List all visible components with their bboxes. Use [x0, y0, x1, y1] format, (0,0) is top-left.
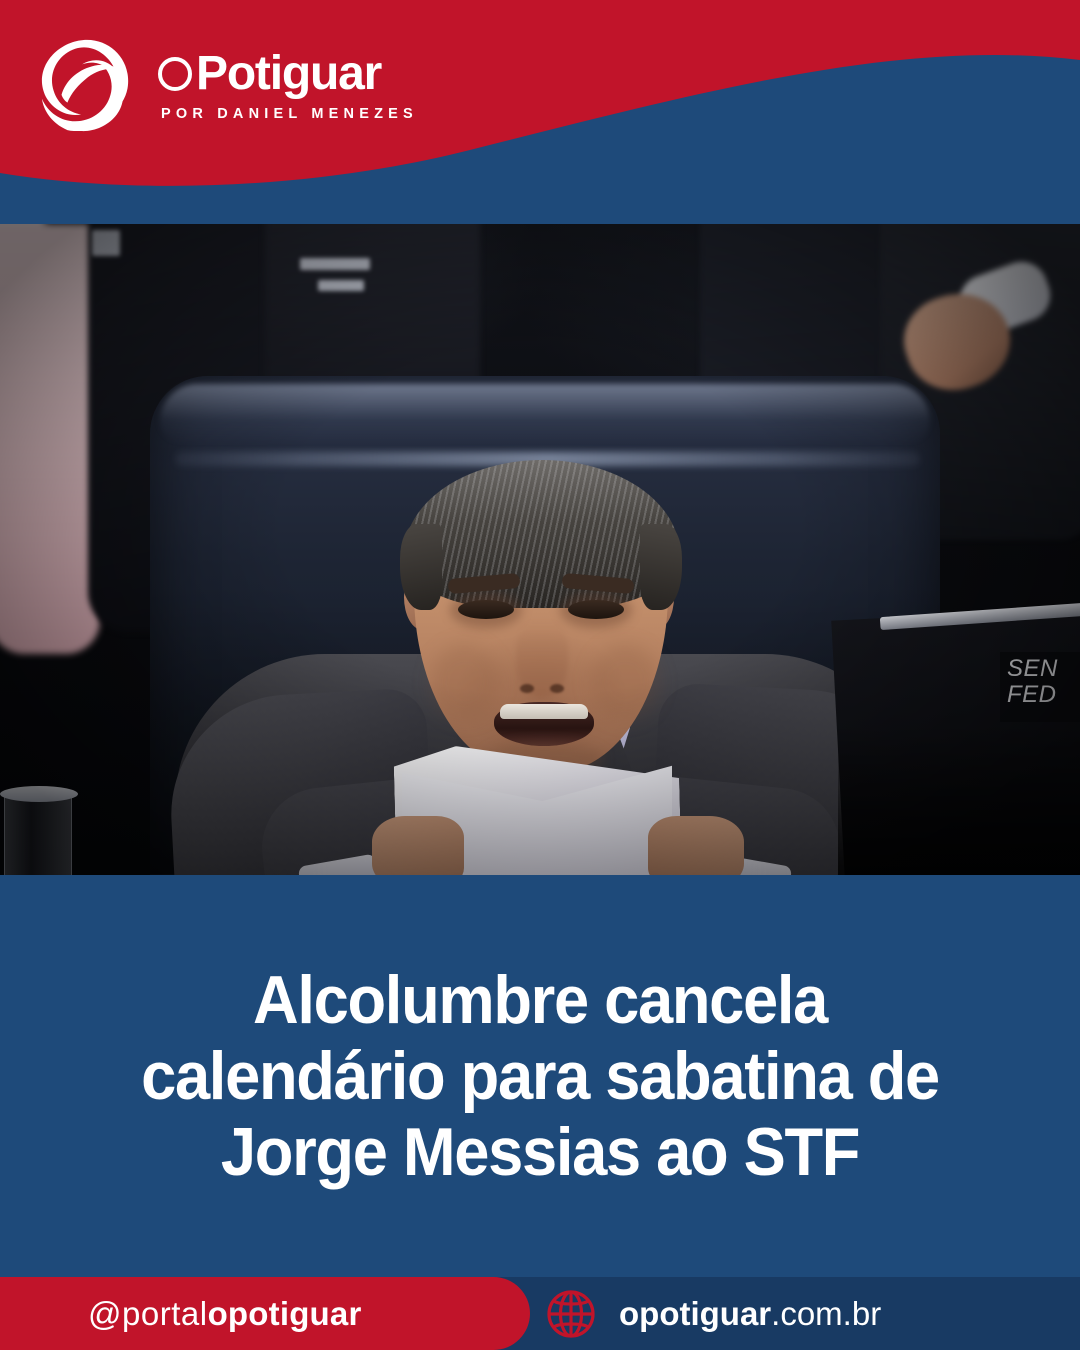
social-handle-block[interactable]: @portalopotiguar	[0, 1277, 530, 1350]
headline-section: Alcolumbre cancela calendário para sabat…	[0, 875, 1080, 1277]
social-handle-prefix: @portal	[88, 1295, 208, 1332]
brand-o-circle-icon	[158, 57, 192, 91]
website-url: opotiguar.com.br	[619, 1297, 881, 1330]
globe-icon	[545, 1288, 597, 1340]
header-bar: Potiguar POR DANIEL MENEZES	[0, 0, 1080, 224]
headline-text: Alcolumbre cancela calendário para sabat…	[75, 962, 1005, 1190]
brand-tagline: POR DANIEL MENEZES	[161, 107, 418, 122]
social-handle-bold: opotiguar	[208, 1295, 362, 1332]
social-handle: @portalopotiguar	[88, 1297, 362, 1330]
brand-logo[interactable]: Potiguar POR DANIEL MENEZES	[38, 36, 418, 134]
website-block[interactable]: opotiguar.com.br	[545, 1277, 881, 1350]
social-media-card: Potiguar POR DANIEL MENEZES	[0, 0, 1080, 1350]
footer-bar: @portalopotiguar opotiguar.com.br	[0, 1277, 1080, 1350]
website-tld: .com.br	[771, 1295, 881, 1332]
photo-vignette	[0, 224, 1080, 875]
news-photo: SEN FED	[0, 224, 1080, 875]
website-name: opotiguar	[619, 1295, 771, 1332]
brand-wordmark: Potiguar POR DANIEL MENEZES	[158, 48, 418, 122]
potiguar-flame-circle-logo-icon	[38, 36, 136, 134]
brand-name: Potiguar	[196, 50, 381, 98]
